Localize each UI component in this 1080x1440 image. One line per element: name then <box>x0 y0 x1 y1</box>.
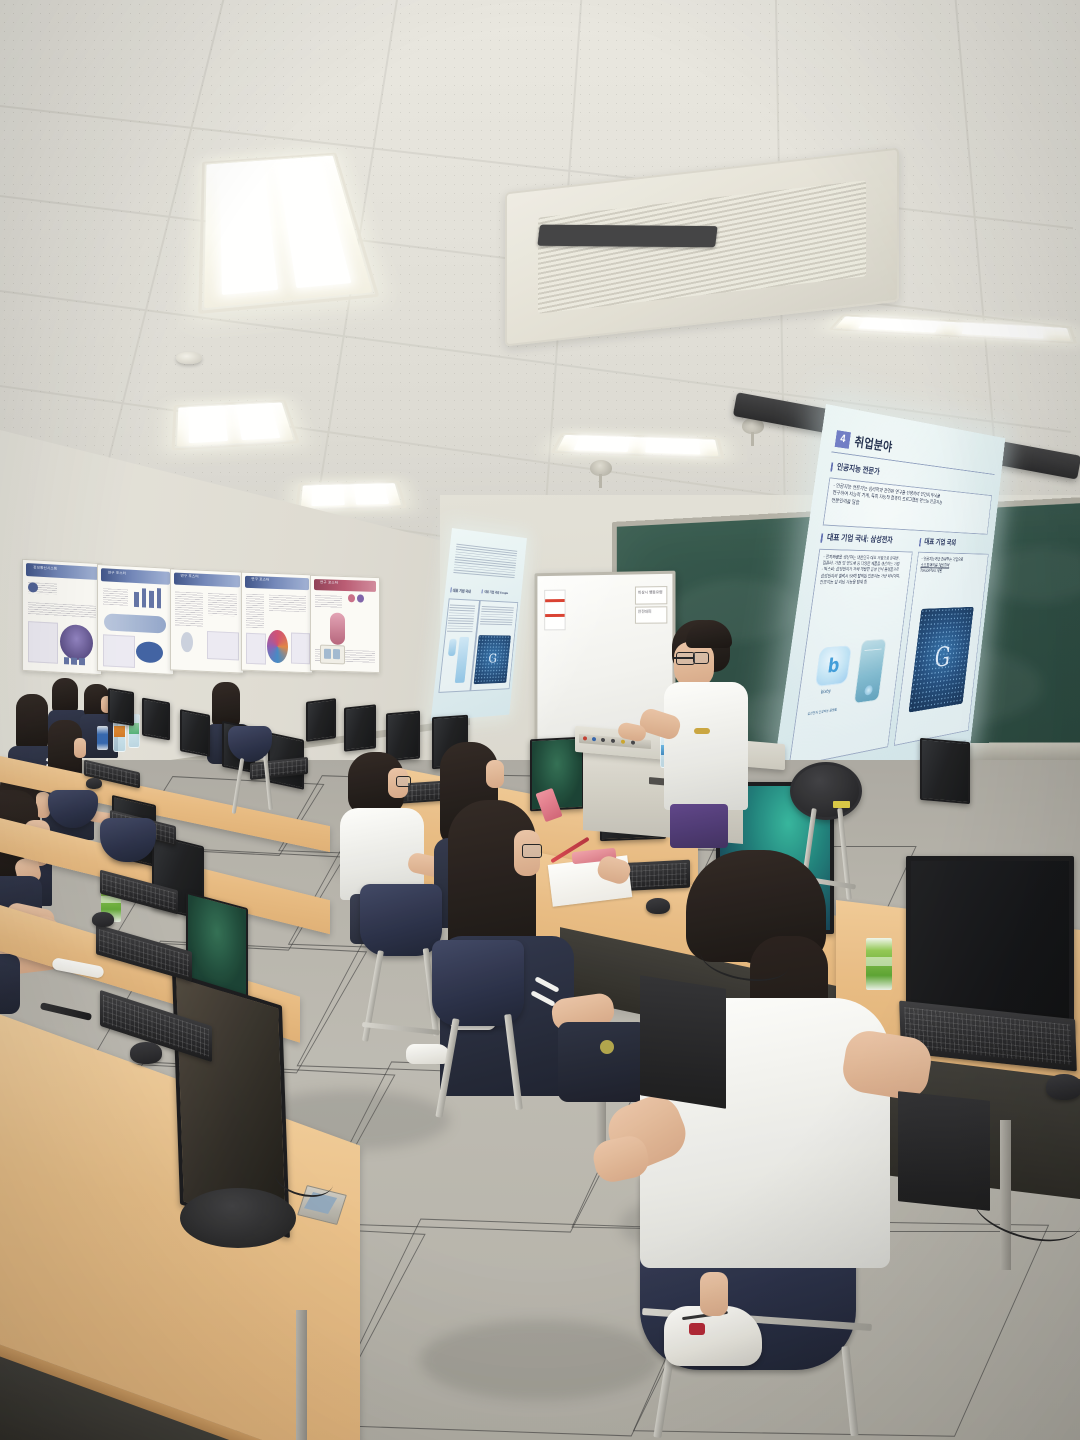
slide-body-3: - 인공지능에만 전념하는 기업으로 소프트웨어를 개발하며 TensorFlo… <box>916 553 967 578</box>
whiteboard-note-top: 비상시 행동요령 <box>635 586 667 604</box>
monitor-left-3 <box>180 709 210 757</box>
whiteboard-note-top-text: 비상시 행동요령 <box>638 590 662 595</box>
mouse-left-1 <box>86 778 102 789</box>
stool <box>790 762 862 820</box>
glasses-icon <box>522 844 542 858</box>
instructor-shorts <box>670 804 728 848</box>
phone-mockup-icon <box>854 639 887 704</box>
monitor-base-foreground <box>180 1188 296 1248</box>
monitor-left-1 <box>108 688 134 726</box>
glasses-icon-2 <box>693 652 709 664</box>
fila-logo-icon <box>689 1323 705 1335</box>
ac-vane <box>538 225 719 248</box>
wall-poster-1: 정보통신시스템 <box>22 559 102 675</box>
ceiling-light-panel-4 <box>557 435 719 456</box>
poster-title: 연구 포스터 <box>320 580 370 587</box>
wall-poster-4: 연구 포스터 <box>241 572 313 674</box>
wall-poster-2: 연구 포스터 <box>97 564 174 675</box>
monitor-right-far <box>920 738 970 804</box>
chair-mid-1[interactable] <box>360 884 442 956</box>
monitor-mid-2 <box>344 704 376 751</box>
ceiling-speaker-icon-2 <box>590 460 612 476</box>
ceiling-light-panel-2 <box>177 402 294 446</box>
poster-title: 연구 포스터 <box>180 574 233 581</box>
slide-heading-3: 대표 기업 국외 <box>919 538 956 547</box>
shirt-logo <box>694 728 710 734</box>
bixby-caption: 삼성전자 인공지능 플랫폼 <box>807 706 837 716</box>
google-g-glyph: G <box>488 652 498 667</box>
sneaker-white-mid-2 <box>406 1044 450 1064</box>
wall-outlet-plate <box>320 645 345 665</box>
smoke-detector-icon <box>176 352 202 364</box>
classroom-photo: 정보통신시스템 연구 포스터 연구 포스터 연구 포스터 <box>0 0 1080 1440</box>
monitor-left-2 <box>142 698 170 741</box>
secondary-slide-heading-right: 대표 기업 국외 Google <box>482 589 508 595</box>
pc-tower-mid <box>640 975 726 1109</box>
chair-mid-2[interactable] <box>432 940 524 1026</box>
google-logo-icon: G <box>474 636 511 684</box>
slide-body-2-line-5: 인공지능 딥 러닝 기능을 탑재 함 <box>819 579 899 586</box>
whiteboard-note-bottom-text: 안전대피 <box>638 610 651 615</box>
pants-logo <box>600 1040 614 1054</box>
monitor-mid-3 <box>386 711 420 762</box>
whiteboard-note-bottom: 안전대피 <box>635 606 667 624</box>
desk-leg-1 <box>296 1310 307 1440</box>
student-pants <box>558 1022 648 1102</box>
whiteboard-warning-sticker <box>544 590 566 630</box>
slide-section-badge: 4 <box>835 430 851 449</box>
glasses-icon <box>396 776 411 787</box>
wall-poster-3: 연구 포스터 <box>170 568 244 673</box>
mouse-left-2 <box>92 912 114 927</box>
instructor-shirt <box>664 682 748 810</box>
secondary-slide-heading-left: 대표 기업 국내 <box>450 587 471 593</box>
ankle <box>700 1272 728 1316</box>
ceiling-light-panel-3 <box>301 483 401 508</box>
monitor-mid-1 <box>306 698 336 742</box>
bixby-glyph: b <box>826 654 840 678</box>
bixby-logo-icon: b <box>815 645 852 687</box>
sports-drink-can <box>97 726 108 750</box>
poster-title: 연구 포스터 <box>108 570 163 578</box>
google-logo-icon: G <box>909 607 974 713</box>
poster-title: 연구 포스터 <box>251 577 303 584</box>
mouse-right-main <box>1046 1074 1080 1100</box>
green-soda-can-right <box>866 938 892 990</box>
slide-body-3-line-3: TensorFlow 개발 <box>920 568 963 574</box>
mouse-left-3 <box>130 1042 162 1064</box>
slide-body-2: - 전자제품을 생산하는 대한민국 대표 기업으로 휴대폰, 컴퓨터, 가전 및… <box>814 550 906 590</box>
bixby-label: bixby <box>820 688 831 695</box>
mouse-mid-1 <box>646 898 670 914</box>
poster-title: 정보통신시스템 <box>33 565 90 573</box>
slide-body-2-line-3: - 빅스비: 삼성전자가 자체 개발한 음성 인식 플랫폼으로 <box>821 567 901 574</box>
